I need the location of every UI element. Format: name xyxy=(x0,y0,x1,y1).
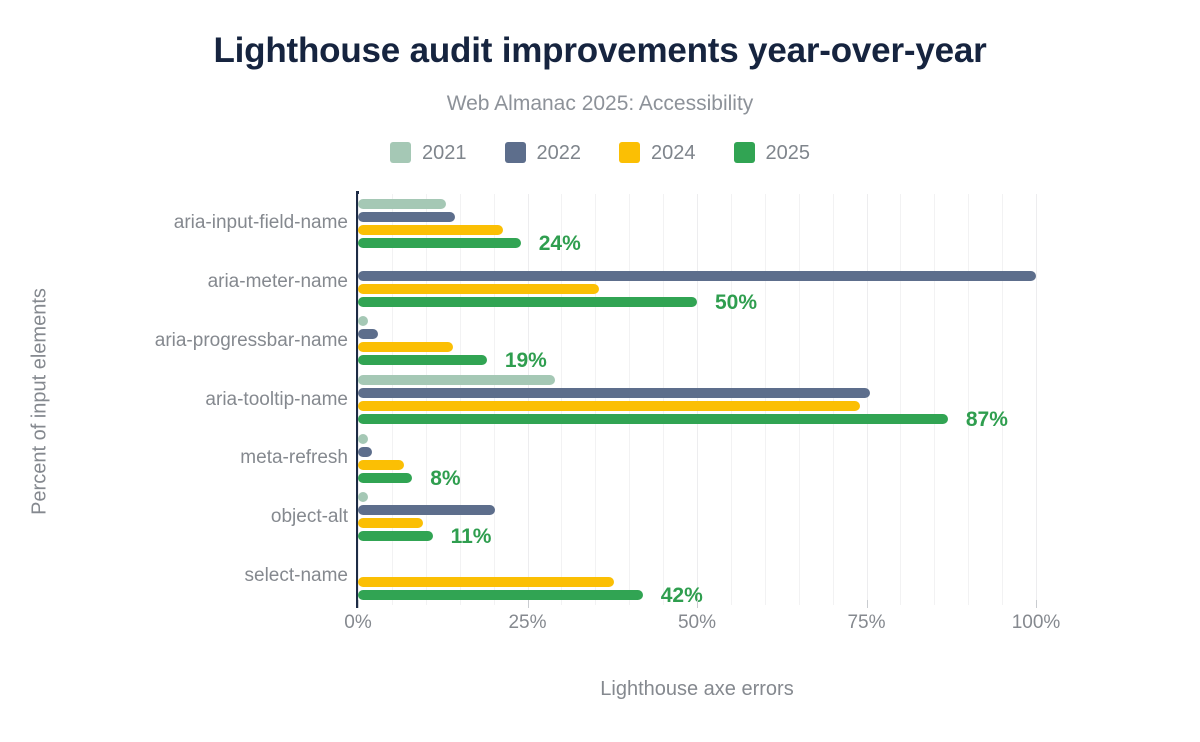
y-tick-label-select-name: select-name xyxy=(245,565,349,587)
bar-fill xyxy=(358,505,495,515)
x-tick-label-50%: 50% xyxy=(678,612,716,634)
legend-item-2021[interactable]: 2021 xyxy=(390,142,467,163)
bar-group-aria-tooltip-name: 87% xyxy=(358,375,1036,424)
x-tick-label-0%: 0% xyxy=(344,612,371,634)
bar-fill xyxy=(358,531,433,541)
chart-subtitle: Web Almanac 2025: Accessibility xyxy=(0,92,1200,116)
bar-aria-progressbar-name-2025[interactable] xyxy=(358,355,487,365)
y-tick-label-meta-refresh: meta-refresh xyxy=(240,447,348,469)
x-tickmark xyxy=(867,600,868,608)
bar-fill xyxy=(358,342,453,352)
bar-group-object-alt: 11% xyxy=(358,492,1036,541)
plot-area: 24%50%19%87%8%11%42% xyxy=(358,194,1058,605)
x-tick-label-75%: 75% xyxy=(847,612,885,634)
bar-fill xyxy=(358,577,614,587)
bar-aria-progressbar-name-2024[interactable] xyxy=(358,342,453,352)
legend-item-2022[interactable]: 2022 xyxy=(505,142,582,163)
bar-aria-meter-name-2025[interactable] xyxy=(358,297,697,307)
bar-aria-progressbar-name-2021[interactable] xyxy=(358,316,368,326)
legend-label-2024: 2024 xyxy=(651,143,696,163)
bar-fill xyxy=(358,518,423,528)
x-tick-label-100%: 100% xyxy=(1012,612,1061,634)
bar-fill xyxy=(358,199,446,209)
legend-swatch-2021 xyxy=(390,142,411,163)
bar-object-alt-2024[interactable] xyxy=(358,518,423,528)
bar-value-label-aria-tooltip-name: 87% xyxy=(966,409,1008,430)
bar-object-alt-2025[interactable] xyxy=(358,531,433,541)
x-axis-tick-labels: 0%25%50%75%100% xyxy=(358,612,1058,642)
x-axis-title: Lighthouse axe errors xyxy=(358,678,1036,701)
legend-swatch-2024 xyxy=(619,142,640,163)
bar-fill xyxy=(358,590,643,600)
bar-aria-input-field-name-2022[interactable] xyxy=(358,212,455,222)
bar-fill xyxy=(358,316,368,326)
legend-label-2022: 2022 xyxy=(537,143,582,163)
bar-aria-tooltip-name-2021[interactable] xyxy=(358,375,555,385)
x-tick-label-25%: 25% xyxy=(508,612,546,634)
bar-fill xyxy=(358,460,404,470)
bar-fill xyxy=(358,375,555,385)
bar-fill xyxy=(358,473,412,483)
bar-aria-input-field-name-2025[interactable] xyxy=(358,238,521,248)
bar-fill xyxy=(358,414,948,424)
bar-fill xyxy=(358,212,455,222)
legend-label-2025: 2025 xyxy=(766,143,811,163)
plot-inner: 24%50%19%87%8%11%42% xyxy=(358,194,1036,605)
legend-item-2024[interactable]: 2024 xyxy=(619,142,696,163)
bar-object-alt-2022[interactable] xyxy=(358,505,495,515)
bar-group-aria-input-field-name: 24% xyxy=(358,199,1036,248)
bar-fill xyxy=(358,388,870,398)
x-tickmark xyxy=(1036,600,1037,608)
bar-meta-refresh-2024[interactable] xyxy=(358,460,404,470)
y-tick-label-object-alt: object-alt xyxy=(271,506,348,528)
bar-fill xyxy=(358,492,368,502)
y-tick-label-aria-progressbar-name: aria-progressbar-name xyxy=(155,330,348,352)
bar-meta-refresh-2022[interactable] xyxy=(358,447,372,457)
x-tickmark xyxy=(528,600,529,608)
bar-fill xyxy=(358,297,697,307)
bar-value-label-aria-progressbar-name: 19% xyxy=(505,350,547,371)
legend-item-2025[interactable]: 2025 xyxy=(734,142,811,163)
bar-aria-progressbar-name-2022[interactable] xyxy=(358,329,378,339)
bar-fill xyxy=(358,284,599,294)
y-tick-label-aria-input-field-name: aria-input-field-name xyxy=(174,212,348,234)
chart-legend: 2021202220242025 xyxy=(0,142,1200,163)
bar-value-label-meta-refresh: 8% xyxy=(430,468,460,489)
y-axis-title: Percent of input elements xyxy=(29,262,52,542)
bar-aria-tooltip-name-2025[interactable] xyxy=(358,414,948,424)
legend-swatch-2025 xyxy=(734,142,755,163)
bar-fill xyxy=(358,447,372,457)
bar-aria-tooltip-name-2022[interactable] xyxy=(358,388,870,398)
x-tickmark xyxy=(358,600,359,608)
bar-meta-refresh-2025[interactable] xyxy=(358,473,412,483)
bar-aria-tooltip-name-2024[interactable] xyxy=(358,401,860,411)
legend-label-2021: 2021 xyxy=(422,143,467,163)
bar-meta-refresh-2021[interactable] xyxy=(358,434,368,444)
bar-select-name-2025[interactable] xyxy=(358,590,643,600)
bar-fill xyxy=(358,434,368,444)
bar-aria-input-field-name-2021[interactable] xyxy=(358,199,446,209)
bar-fill xyxy=(358,355,487,365)
legend-swatch-2022 xyxy=(505,142,526,163)
chart-title: Lighthouse audit improvements year-over-… xyxy=(0,31,1200,71)
bar-fill xyxy=(358,225,503,235)
bar-aria-meter-name-2022[interactable] xyxy=(358,271,1036,281)
bar-fill xyxy=(358,271,1036,281)
bar-fill xyxy=(358,401,860,411)
bar-value-label-object-alt: 11% xyxy=(451,526,492,547)
y-tick-label-aria-tooltip-name: aria-tooltip-name xyxy=(205,389,348,411)
bar-value-label-aria-meter-name: 50% xyxy=(715,292,757,313)
bar-aria-meter-name-2024[interactable] xyxy=(358,284,599,294)
bar-object-alt-2021[interactable] xyxy=(358,492,368,502)
bar-value-label-aria-input-field-name: 24% xyxy=(539,233,581,254)
chart-figure: Lighthouse audit improvements year-over-… xyxy=(0,0,1200,742)
y-tick-label-aria-meter-name: aria-meter-name xyxy=(208,271,348,293)
bar-group-meta-refresh: 8% xyxy=(358,434,1036,483)
bar-group-select-name: 42% xyxy=(358,551,1036,600)
bar-group-aria-progressbar-name: 19% xyxy=(358,316,1036,365)
x-tickmark xyxy=(697,600,698,608)
gridline xyxy=(1036,194,1037,605)
bar-fill xyxy=(358,329,378,339)
y-axis-tick-labels: aria-input-field-namearia-meter-namearia… xyxy=(0,194,348,605)
bar-fill xyxy=(358,238,521,248)
bar-select-name-2024[interactable] xyxy=(358,577,614,587)
bar-aria-input-field-name-2024[interactable] xyxy=(358,225,503,235)
bar-group-aria-meter-name: 50% xyxy=(358,258,1036,307)
